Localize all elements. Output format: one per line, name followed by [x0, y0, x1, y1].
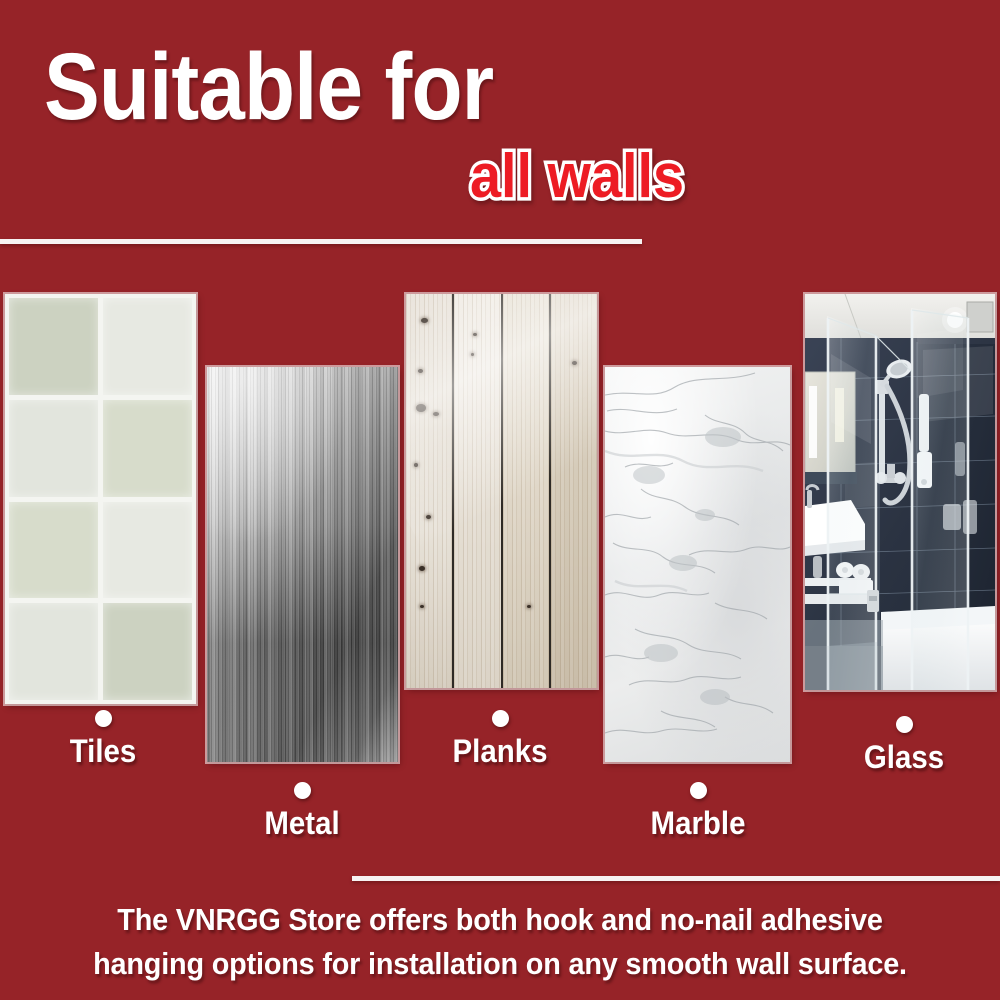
plank-texture — [406, 294, 597, 688]
bullet-dot-tiles — [95, 710, 112, 727]
page-title: Suitable for — [44, 40, 493, 135]
page-subtitle: all walls — [470, 146, 684, 208]
bathroom-photo — [805, 294, 995, 690]
sample-label-glass: Glass — [812, 739, 996, 776]
sample-label-tiles: Tiles — [11, 733, 195, 770]
tile-texture — [5, 294, 196, 704]
sample-image-glass — [805, 294, 995, 690]
sample-image-tiles — [5, 294, 196, 704]
bullet-dot-planks — [492, 710, 509, 727]
footer-text: The VNRGG Store offers both hook and no-… — [0, 898, 1000, 986]
sample-label-marble: Marble — [606, 805, 790, 842]
bullet-dot-marble — [690, 782, 707, 799]
footer-line-2: hanging options for installation on any … — [35, 942, 965, 986]
divider-top — [0, 239, 642, 244]
metal-highlight — [207, 367, 350, 545]
sample-image-marble — [605, 367, 790, 762]
bullet-dot-glass — [896, 716, 913, 733]
bullet-dot-metal — [294, 782, 311, 799]
sample-label-metal: Metal — [210, 805, 394, 842]
divider-bottom — [352, 876, 1000, 881]
sample-image-metal — [207, 367, 398, 762]
sample-label-planks: Planks — [408, 733, 592, 770]
footer-line-1: The VNRGG Store offers both hook and no-… — [35, 898, 965, 942]
sample-image-planks — [406, 294, 597, 688]
promo-banner: Suitable for all walls — [0, 0, 1000, 1000]
marble-veining — [605, 367, 790, 762]
